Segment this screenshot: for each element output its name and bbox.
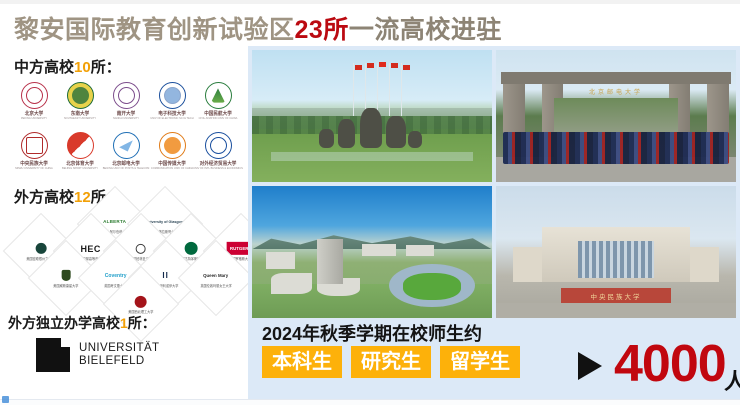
chinese-university-logo-grid: 北京大学 PEKING UNIVERSITY 东南大学 SOUTHEAST UN…	[12, 82, 240, 180]
foreign-university-name: 英国伦敦玛丽女王大学	[200, 283, 231, 288]
chinese-university-name-en: PEKING UNIVERSITY	[21, 117, 47, 120]
chinese-university-name: 中央民族大学	[20, 160, 48, 167]
chinese-university-name: 南开大学	[117, 110, 135, 117]
chinese-university-name-en: CIVIL AVIATION UNIV OF CHINA	[199, 117, 238, 120]
enrollment-unit: 人	[724, 364, 740, 396]
chinese-university-name-en: COMMUNICATION UNIV OF CHINA	[151, 167, 193, 170]
photo-plaza	[496, 303, 736, 318]
enrollment-number: 4000	[614, 338, 726, 390]
title-suffix: 一流高校进驻	[349, 16, 502, 44]
chinese-university-name-en: BEIJING SPORT UNIVERSITY	[62, 167, 98, 170]
chinese-university-item[interactable]: 北京体育大学 BEIJING SPORT UNIVERSITY	[58, 132, 102, 180]
photo-minzu-university[interactable]: 中央民族大学	[496, 186, 736, 318]
beijing-sport-university-logo-icon	[67, 132, 94, 159]
dartmouth-logo-icon	[185, 242, 198, 255]
photo-building-sign: 中央民族大学	[561, 288, 671, 304]
chinese-university-name-en: MINZU UNIVERSITY OF CHINA	[15, 167, 53, 170]
enrollment-stats: 2024年秋季学期在校师生约 本科生 研究生 留学生 4000 人	[256, 320, 736, 400]
top-divider	[0, 0, 740, 4]
photo-gate-canopy	[501, 72, 731, 84]
alberta-logo-icon: ALBERTA	[103, 215, 126, 228]
foreign-university-name: 美国威斯康星大学	[53, 283, 78, 288]
southeast-university-logo-icon	[67, 82, 94, 109]
hec-paris-logo-icon: HEC	[81, 242, 101, 255]
chip-international[interactable]: 留学生	[440, 346, 520, 378]
chinese-university-name-en: UNIV OF ELECTRONIC SCI & TECH	[150, 117, 193, 120]
section-independent-prefix: 外方独立办学高校	[8, 315, 120, 331]
chinese-university-name: 北京大学	[25, 110, 43, 117]
chinese-university-item[interactable]: 北京大学 PEKING UNIVERSITY	[12, 82, 56, 130]
michigan-state-logo-icon	[36, 242, 47, 255]
section-header-independent: 外方独立办学高校1所：	[8, 313, 156, 333]
coventry-logo-icon: Coventry	[105, 269, 127, 282]
uestc-logo-icon	[159, 82, 186, 109]
chip-postgraduate[interactable]: 研究生	[351, 346, 431, 378]
bielefeld-name-line1: UNIVERSITÄT	[79, 342, 159, 355]
page-title: 黎安国际教育创新试验区23所一流高校进驻	[14, 14, 534, 46]
bielefeld-name-line2: BIELEFELD	[79, 355, 159, 368]
chinese-university-name-en: BEIJING UNIV OF POSTS & TELECOM	[103, 167, 150, 170]
section-chinese-count: 10	[74, 59, 91, 76]
title-prefix: 黎安国际教育创新试验区	[14, 16, 295, 44]
photo-grid: 北京邮电大学	[252, 50, 736, 318]
photo-aerial-campus[interactable]	[252, 186, 492, 318]
illinois-logo-icon: II	[163, 269, 169, 282]
section-chinese-prefix: 中方高校	[14, 59, 74, 76]
photo-university-gate-graduates[interactable]: 北京邮电大学	[496, 50, 736, 182]
peking-university-logo-icon	[21, 82, 48, 109]
bupt-logo-icon	[113, 132, 140, 159]
section-independent-count: 1	[120, 315, 128, 331]
nankai-university-logo-icon	[113, 82, 140, 109]
communication-university-logo-icon	[159, 132, 186, 159]
photo-pitch	[403, 273, 461, 299]
chinese-university-name-en: NANKAI UNIVERSITY	[113, 117, 139, 120]
chinese-university-name: 中国民航大学	[204, 110, 232, 117]
bielefeld-university-item[interactable]: UNIVERSITÄT BIELEFELD	[36, 338, 159, 372]
corner-indicator	[2, 396, 9, 403]
section-header-chinese: 中方高校10所：	[14, 56, 121, 77]
foreign-university-honeycomb: ALBERTA 加拿大阿尔伯塔大学 University of Glasgow …	[4, 213, 246, 313]
chinese-university-item[interactable]: 中国民航大学 CIVIL AVIATION UNIV OF CHINA	[196, 82, 240, 130]
slide-root: 黎安国际教育创新试验区23所一流高校进驻 中方高校10所： 北京大学 PEKIN…	[0, 0, 740, 405]
wisconsin-logo-icon	[62, 269, 71, 282]
chip-undergraduate[interactable]: 本科生	[262, 346, 342, 378]
chinese-university-name: 电子科技大学	[158, 110, 186, 117]
bielefeld-logo-icon	[36, 338, 70, 372]
section-independent-suffix: 所：	[128, 315, 156, 331]
chinese-university-name: 中国传媒大学	[158, 160, 186, 167]
photo-graduates	[503, 132, 729, 164]
section-foreign-count: 12	[74, 189, 91, 206]
section-chinese-suffix: 所：	[91, 59, 121, 76]
civil-aviation-university-logo-icon	[205, 82, 232, 109]
section-foreign-prefix: 外方高校	[14, 189, 74, 206]
chinese-university-item[interactable]: 电子科技大学 UNIV OF ELECTRONIC SCI & TECH	[150, 82, 194, 130]
chinese-university-name-en: SOUTHEAST UNIVERSITY	[64, 117, 96, 120]
chinese-university-name: 对外经济贸易大学	[200, 160, 237, 167]
chinese-university-name: 东南大学	[71, 110, 89, 117]
chinese-university-item[interactable]: 对外经济贸易大学 UNIV OF INTL BUSINESS & ECONOMI…	[196, 132, 240, 180]
minzu-university-logo-icon	[21, 132, 48, 159]
photo-building-sign-text: 中央民族大学	[590, 291, 641, 301]
trinity-college-logo-icon	[136, 242, 146, 255]
bottom-divider	[0, 399, 740, 405]
photo-right-wing	[686, 247, 720, 283]
student-category-chips: 本科生 研究生 留学生	[262, 346, 520, 378]
chinese-university-item[interactable]: 东南大学 SOUTHEAST UNIVERSITY	[58, 82, 102, 130]
queen-mary-logo-icon: Queen Mary	[203, 269, 228, 282]
chinese-university-item[interactable]: 中国传媒大学 COMMUNICATION UNIV OF CHINA	[150, 132, 194, 180]
universities-panel: 中方高校10所： 北京大学 PEKING UNIVERSITY 东南大学 SOU…	[0, 48, 248, 405]
chinese-university-item[interactable]: 中央民族大学 MINZU UNIVERSITY OF CHINA	[12, 132, 56, 180]
title-highlight: 23所	[295, 16, 349, 44]
chinese-university-name: 北京体育大学	[66, 160, 94, 167]
chinese-university-item[interactable]: 南开大学 NANKAI UNIVERSITY	[104, 82, 148, 130]
photo-tower	[317, 239, 343, 284]
photo-caption-strip	[271, 152, 473, 161]
photo-campus-monument[interactable]	[252, 50, 492, 182]
photo-glass-facade	[578, 241, 655, 278]
photo-gate-text: 北京邮电大学	[556, 87, 676, 96]
chinese-university-name: 北京邮电大学	[112, 160, 140, 167]
uibe-logo-icon	[205, 132, 232, 159]
chinese-university-name-en: UNIV OF INTL BUSINESS & ECONOMICS	[193, 167, 243, 170]
bristol-logo-icon	[135, 295, 147, 308]
chinese-university-item[interactable]: 北京邮电大学 BEIJING UNIV OF POSTS & TELECOM	[104, 132, 148, 180]
play-triangle-icon	[578, 352, 602, 380]
enrollment-headline: 2024年秋季学期在校师生约	[262, 320, 482, 346]
